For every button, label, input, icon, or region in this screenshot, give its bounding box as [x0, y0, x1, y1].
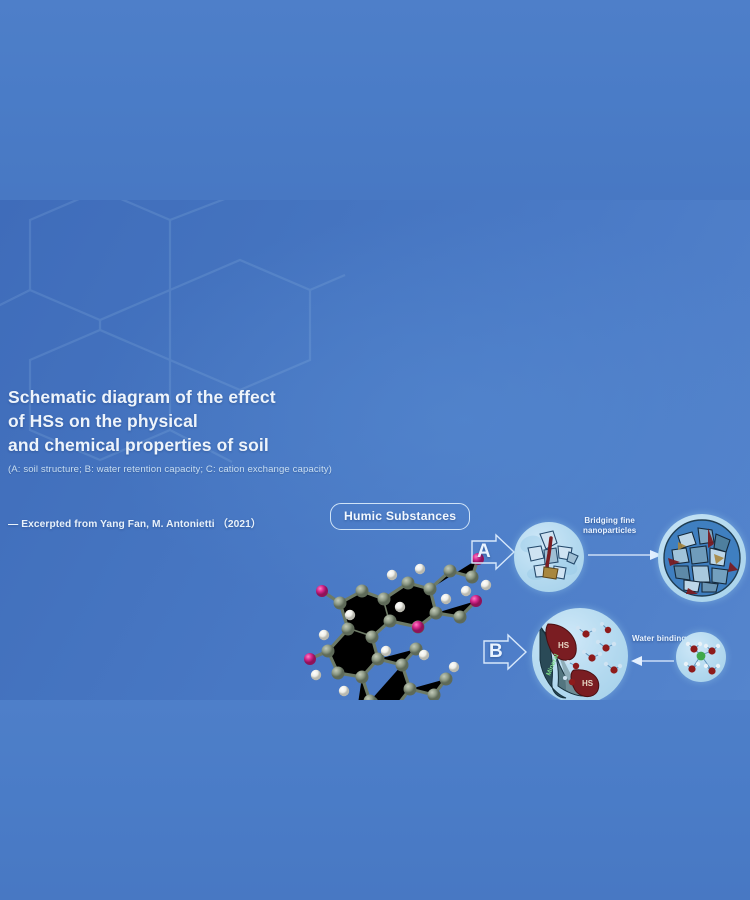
page-title: Schematic diagram of the effect of HSs o…	[8, 385, 338, 457]
connector-arrow-b	[630, 648, 678, 674]
letterbox-bottom	[0, 700, 750, 900]
text-block: Schematic diagram of the effect of HSs o…	[8, 385, 338, 530]
svg-text:HS: HS	[558, 641, 570, 650]
panel-hs-bound-water-on-mineral: HS HS Mineral	[532, 608, 628, 700]
letterbox-top	[0, 0, 750, 200]
branch-letter-a: A	[477, 541, 491, 563]
svg-text:HS: HS	[582, 679, 594, 688]
panel-free-water-molecules	[676, 632, 726, 682]
process-label-line-2: nanoparticles	[583, 526, 636, 536]
humic-substances-label: Humic Substances	[330, 503, 470, 530]
connector-arrow-a	[586, 542, 664, 568]
fine-nanoparticles-icon	[514, 522, 584, 592]
title-line-3: and chemical properties of soil	[8, 433, 338, 457]
citation-line: — Excerpted from Yang Fan, M. Antonietti…	[8, 515, 338, 530]
panel-bridged-soil-aggregate	[658, 514, 746, 602]
soil-aggregate-icon	[658, 514, 746, 602]
process-label-bridging: Bridging fine nanoparticles	[583, 516, 636, 536]
water-molecules-icon	[676, 632, 726, 682]
panel-dispersed-fine-nanoparticles	[514, 522, 584, 592]
branch-marker-a: A	[470, 532, 516, 572]
process-label-line-1: Bridging fine	[583, 516, 636, 526]
water-retention-icon: HS HS Mineral	[532, 608, 628, 700]
title-line-1: Schematic diagram of the effect	[8, 385, 338, 409]
branch-marker-b: B	[482, 632, 528, 672]
process-label-water-binding: Water binding	[632, 634, 686, 644]
branch-letter-b: B	[489, 641, 503, 663]
title-line-2: of HSs on the physical	[8, 409, 338, 433]
process-label-line-1: Water binding	[632, 634, 686, 644]
subtitle-legend: (A: soil structure; B: water retention c…	[8, 464, 338, 475]
figure-canvas: Schematic diagram of the effect of HSs o…	[0, 0, 750, 900]
schematic-figure: Schematic diagram of the effect of HSs o…	[0, 200, 750, 700]
